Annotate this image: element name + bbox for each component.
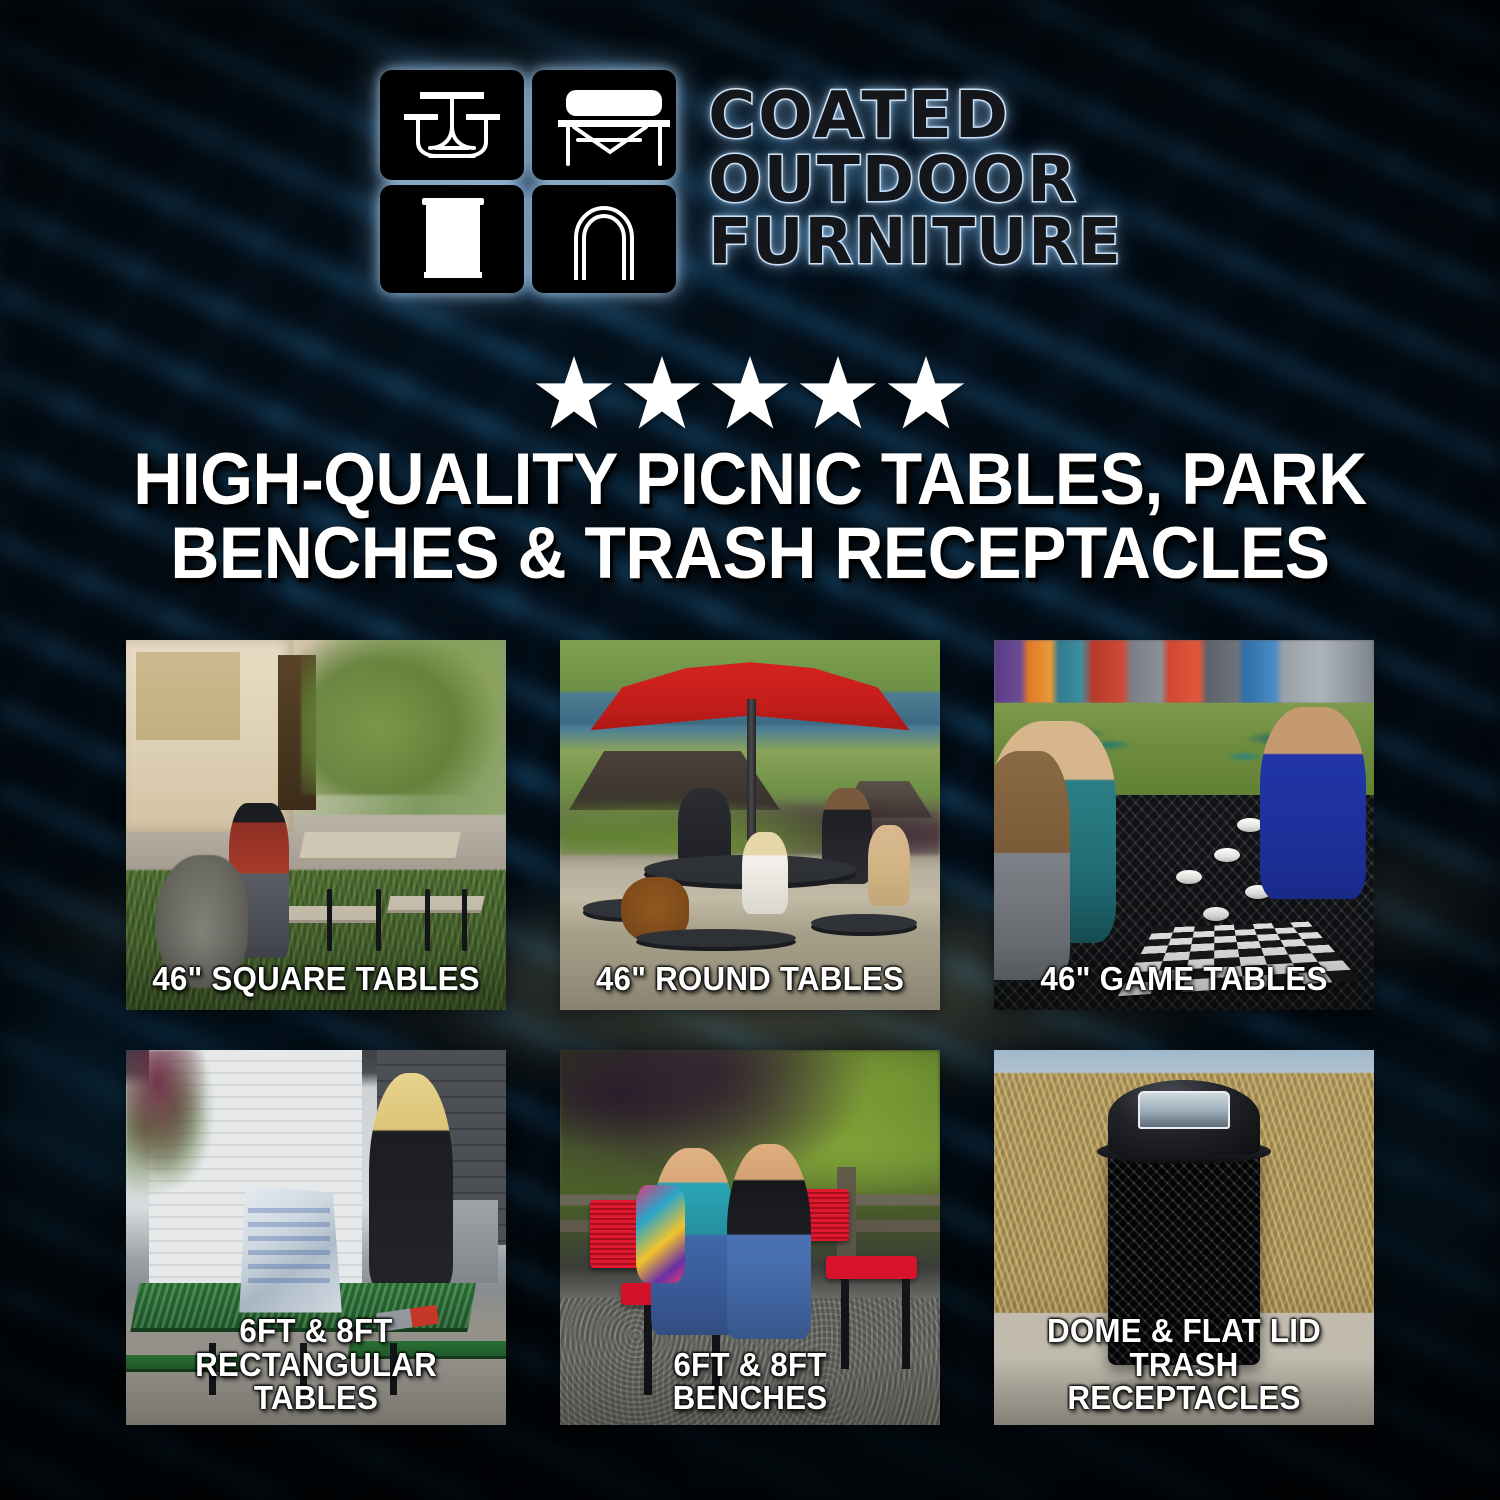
product-tile-benches[interactable]: 6FT & 8FT BENCHES: [560, 1050, 940, 1425]
star-icon: [535, 356, 613, 431]
caption-line-1: 46" GAME TABLES: [1009, 962, 1359, 996]
product-caption-trash-receptacles: DOME & FLAT LID TRASH RECEPTACLES: [1009, 1314, 1359, 1415]
photo-woman: [369, 1073, 453, 1291]
caption-line-1: DOME & FLAT LID: [1009, 1314, 1359, 1348]
brand-line-1: COATED: [708, 86, 1122, 147]
product-caption-benches: 6FT & 8FT BENCHES: [575, 1348, 925, 1415]
headline-line-1: HIGH-QUALITY PICNIC TABLES, PARK: [118, 443, 1383, 517]
star-icon: [799, 356, 877, 431]
product-grid: 46" SQUARE TABLES: [126, 640, 1374, 1425]
caption-line-2: TRASH RECEPTACLES: [1009, 1348, 1359, 1415]
headline-line-2: BENCHES & TRASH RECEPTACLES: [118, 517, 1383, 591]
caption-line-1: 46" SQUARE TABLES: [141, 962, 491, 996]
photo-tree: [301, 640, 499, 795]
logo-panel-arch: [532, 185, 676, 293]
photo-vine: [126, 1050, 232, 1223]
photo-backpack: [636, 1185, 685, 1283]
product-caption-square-tables: 46" SQUARE TABLES: [141, 962, 491, 996]
brand-wordmark: COATED OUTDOOR FURNITURE: [708, 86, 1122, 276]
star-icon: [623, 356, 701, 431]
company-logo-mark: [378, 68, 678, 295]
poster-stage: COATED OUTDOOR FURNITURE HIGH-QUALITY PI…: [0, 0, 1500, 1500]
caption-line-2: RECTANGULAR TABLES: [141, 1348, 491, 1415]
product-tile-square-tables[interactable]: 46" SQUARE TABLES: [126, 640, 506, 1010]
product-tile-round-tables[interactable]: 46" ROUND TABLES: [560, 640, 940, 1010]
trash-receptacle-icon: [422, 198, 484, 278]
product-tile-rectangular-tables[interactable]: 6FT & 8FT RECTANGULAR TABLES: [126, 1050, 506, 1425]
caption-line-2: BENCHES: [575, 1381, 925, 1415]
product-caption-rectangular-tables: 6FT & 8FT RECTANGULAR TABLES: [141, 1314, 491, 1415]
star-rating: [0, 356, 1500, 431]
product-tile-trash-receptacles[interactable]: DOME & FLAT LID TRASH RECEPTACLES: [994, 1050, 1374, 1425]
brand-line-2: OUTDOOR: [708, 150, 1122, 210]
product-caption-round-tables: 46" ROUND TABLES: [575, 962, 925, 996]
caption-line-1: 6FT & 8FT: [141, 1314, 491, 1348]
star-icon: [711, 356, 789, 431]
brand-line-3: FURNITURE: [708, 212, 1122, 272]
caption-line-1: 46" ROUND TABLES: [575, 962, 925, 996]
product-tile-game-tables[interactable]: 46" GAME TABLES: [994, 640, 1374, 1010]
product-caption-game-tables: 46" GAME TABLES: [1009, 962, 1359, 996]
brand-header: COATED OUTDOOR FURNITURE: [0, 68, 1500, 295]
poster-content: COATED OUTDOOR FURNITURE HIGH-QUALITY PI…: [0, 0, 1500, 1500]
star-icon: [887, 356, 965, 431]
photo-festival-tents: [994, 640, 1374, 703]
page-headline: HIGH-QUALITY PICNIC TABLES, PARK BENCHES…: [118, 443, 1383, 592]
caption-line-1: 6FT & 8FT: [575, 1348, 925, 1382]
photo-dome-opening: [1138, 1091, 1229, 1129]
